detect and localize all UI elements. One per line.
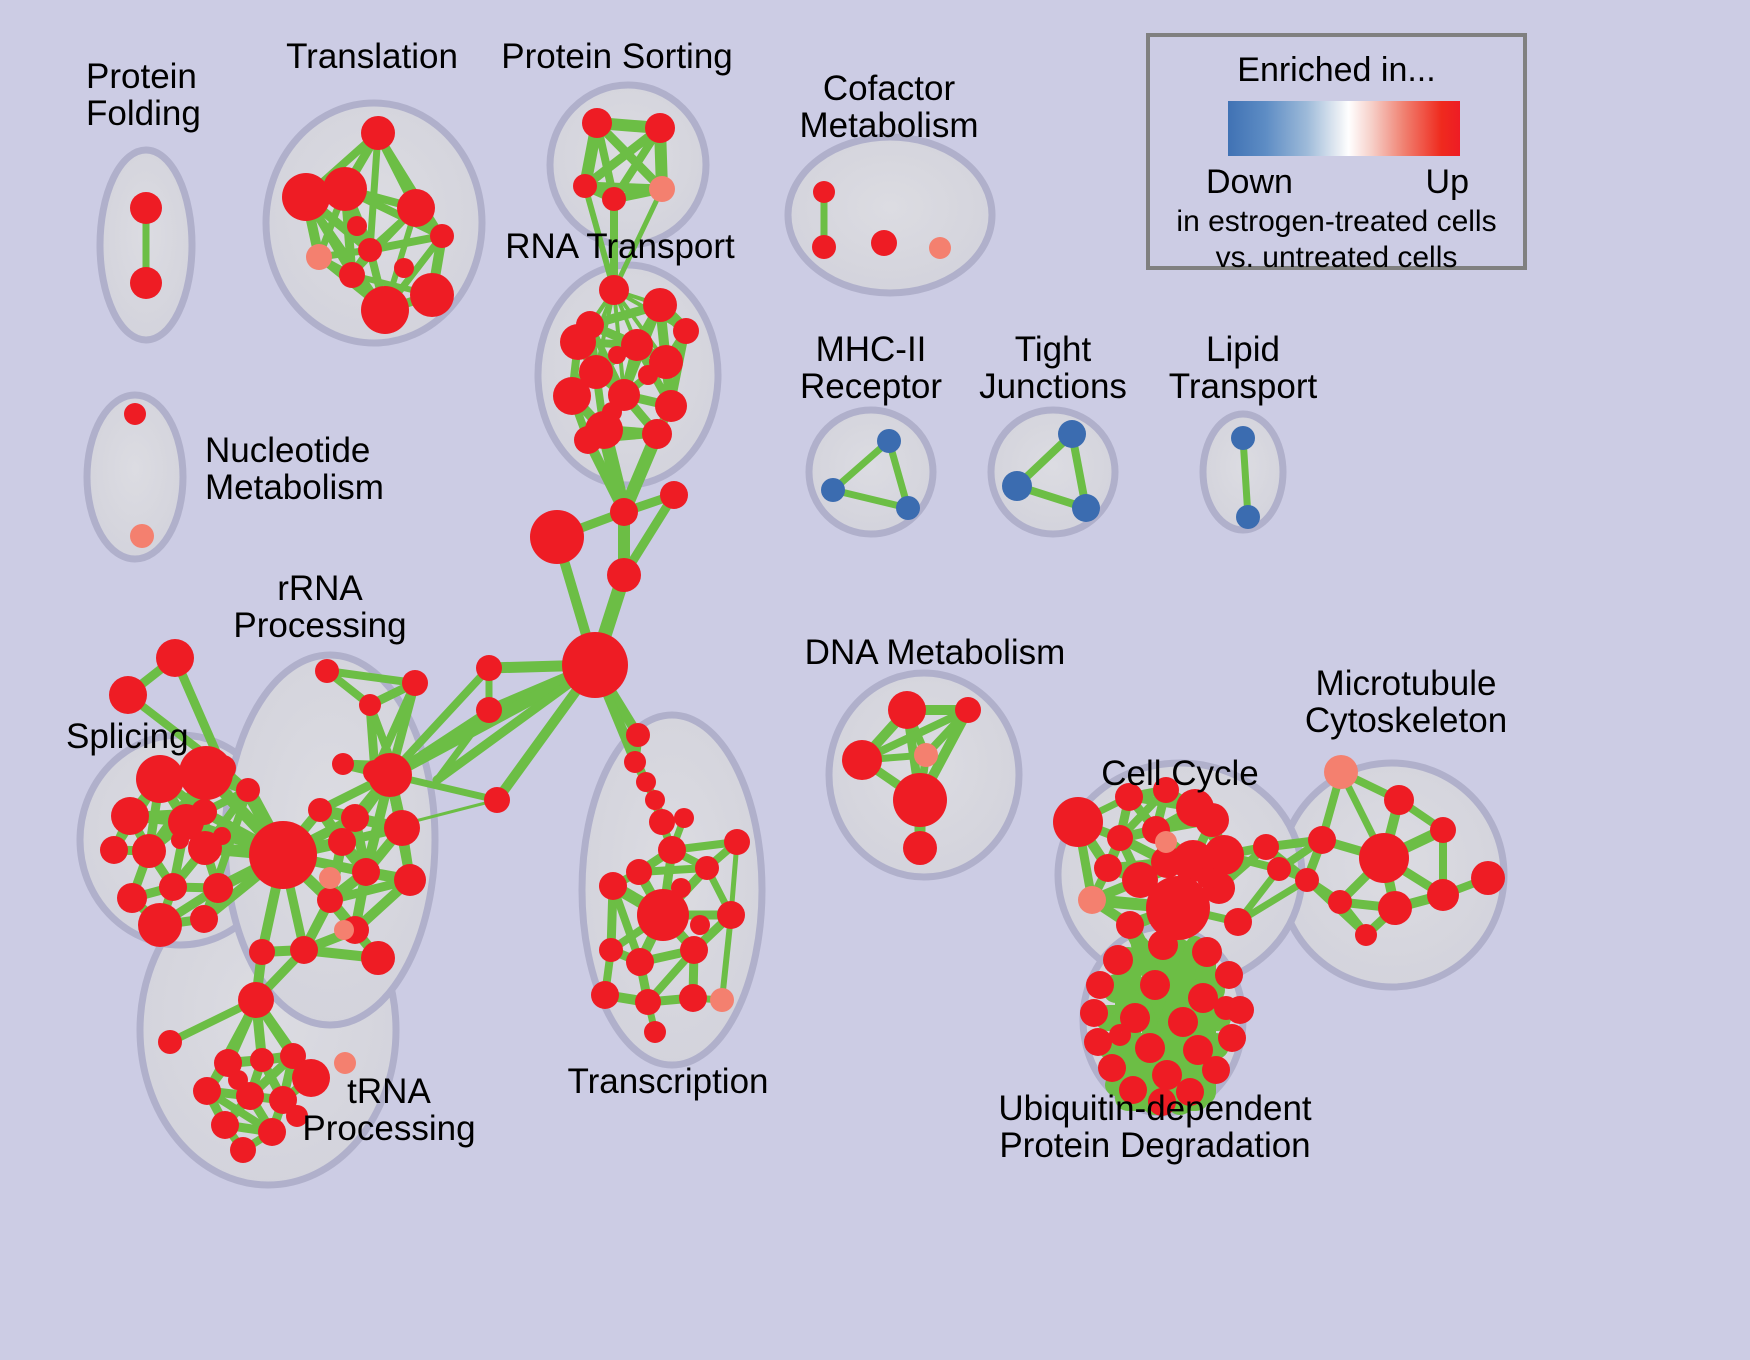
cluster-label-mhc-ii-receptor: MHC-II Receptor [800,331,942,405]
legend-low-label: Down [1206,163,1293,202]
cluster-label-microtubule-cytoskeleton: Microtubule Cytoskeleton [1305,665,1507,739]
cluster-label-transcription: Transcription [568,1063,769,1100]
cluster-label-rrna-processing: rRNA Processing [233,570,406,644]
cluster-label-cell-cycle: Cell Cycle [1101,755,1259,792]
legend-color-gradient [1228,101,1460,156]
cluster-label-protein-sorting: Protein Sorting [501,38,733,75]
enrichment-network-figure: .cl { fill:url(#cg); stroke:#b0b0cb; str… [0,0,1750,1360]
color-legend: Enriched in... Down Up in estrogen-treat… [1146,33,1527,270]
cluster-label-cofactor-metabolism: Cofactor Metabolism [800,70,979,144]
legend-title: Enriched in... [1150,51,1523,90]
cluster-label-splicing: Splicing [66,718,189,755]
legend-caption-line-2: vs. untreated cells [1150,241,1523,275]
cluster-label-dna-metabolism: DNA Metabolism [805,634,1066,671]
cluster-label-rna-transport: RNA Transport [505,228,735,265]
cluster-label-nucleotide-metabolism: Nucleotide Metabolism [205,432,384,506]
legend-caption-line-1: in estrogen-treated cells [1150,205,1523,239]
legend-high-label: Up [1426,163,1469,202]
cluster-hull-protein-sorting [550,85,706,245]
cluster-label-tight-junctions: Tight Junctions [979,331,1127,405]
cluster-label-lipid-transport: Lipid Transport [1169,331,1317,405]
cluster-hull-cofactor [788,137,992,293]
cluster-label-translation: Translation [286,38,458,75]
cluster-label-protein-folding: Protein Folding [86,58,201,132]
cluster-label-ubiquitin-degradation: Ubiquitin-dependent Protein Degradation [998,1090,1311,1164]
cluster-label-trna-processing: tRNA Processing [302,1073,475,1147]
